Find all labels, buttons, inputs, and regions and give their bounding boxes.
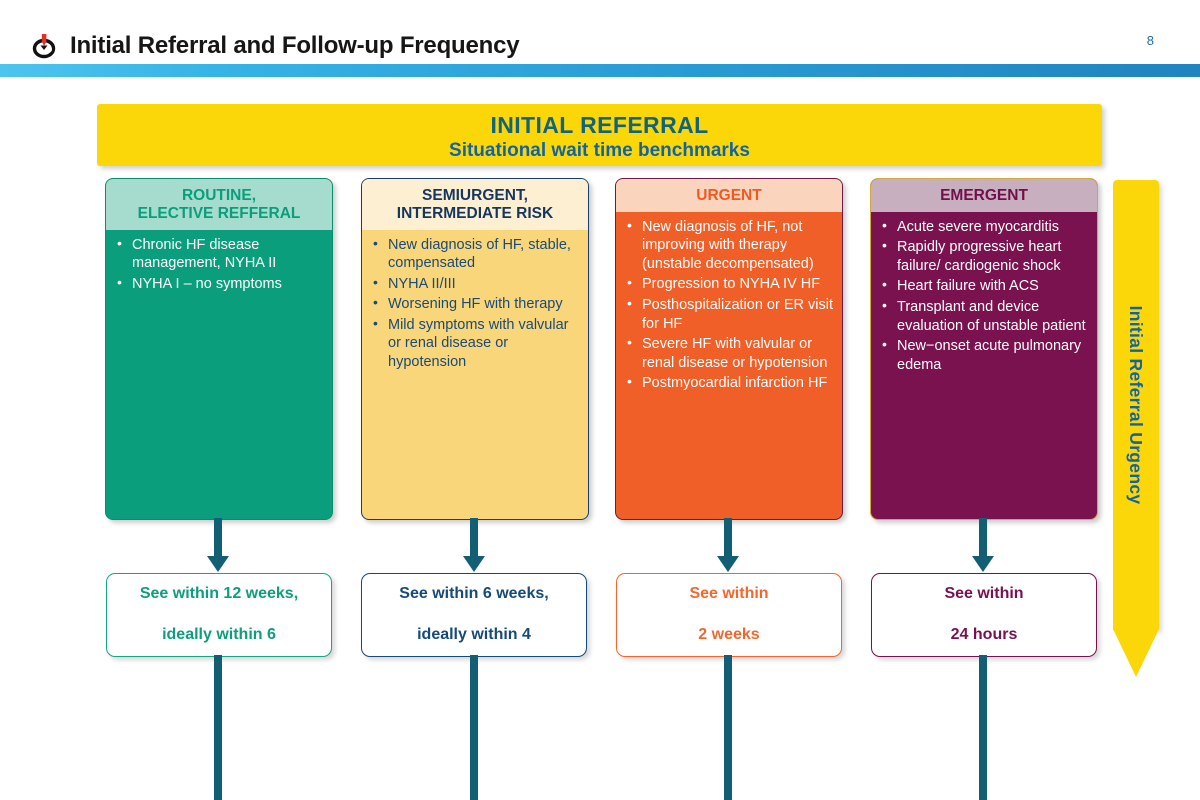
heart-failure-society-logo-icon [30, 33, 60, 59]
list-item: NYHA II/III [386, 275, 580, 294]
list-item: Posthospitalization or ER visit for HF [640, 296, 834, 333]
connector-arrowhead-routine [207, 556, 229, 572]
column-header-line1: SEMIURGENT, [366, 187, 584, 205]
column-body-semiurgent: New diagnosis of HF, stable, compensated… [362, 230, 588, 384]
urgency-arrow-tip-icon [1113, 629, 1159, 677]
outcome-text: See within 12 weeks, ideally within 6 [140, 584, 298, 646]
outcome-line1: See within [689, 584, 768, 605]
list-item: Progression to NYHA IV HF [640, 275, 834, 294]
flow-line-routine [214, 655, 222, 800]
column-header-routine: ROUTINE, ELECTIVE REFFERAL [106, 179, 332, 230]
column-body-routine: Chronic HF disease management, NYHA II N… [106, 230, 332, 306]
list-item: Mild symptoms with valvular or renal dis… [386, 316, 580, 372]
header-accent-bar [0, 64, 1200, 77]
initial-referral-banner: INITIAL REFERRAL Situational wait time b… [97, 104, 1102, 166]
column-header-line2: ELECTIVE REFFERAL [110, 205, 328, 223]
page-number: 8 [1147, 33, 1154, 48]
banner-title: INITIAL REFERRAL [97, 112, 1102, 139]
list-item: New−onset acute pulmonary edema [895, 337, 1089, 374]
connector-arrow-urgent [724, 518, 732, 558]
flow-line-emergent [979, 655, 987, 800]
outcome-line2: ideally within 6 [140, 625, 298, 646]
connector-arrow-semiurgent [470, 518, 478, 558]
slide-header: Initial Referral and Follow-up Frequency… [0, 0, 1200, 66]
urgency-arrow-label: Initial Referral Urgency [1113, 180, 1159, 630]
category-column-semiurgent[interactable]: SEMIURGENT, INTERMEDIATE RISK New diagno… [361, 178, 589, 520]
list-item: Acute severe myocarditis [895, 218, 1089, 237]
outcome-text: See within 24 hours [944, 584, 1023, 646]
outcome-box-emergent[interactable]: See within 24 hours [871, 573, 1097, 657]
connector-arrow-routine [214, 518, 222, 558]
column-body-emergent: Acute severe myocarditis Rapidly progres… [871, 212, 1097, 386]
flow-line-urgent [724, 655, 732, 800]
connector-arrowhead-semiurgent [463, 556, 485, 572]
list-item: Postmyocardial infarction HF [640, 374, 834, 393]
column-header-line2: INTERMEDIATE RISK [366, 205, 584, 223]
flow-line-semiurgent [470, 655, 478, 800]
outcome-box-urgent[interactable]: See within 2 weeks [616, 573, 842, 657]
criteria-list-routine: Chronic HF disease management, NYHA II N… [112, 236, 324, 294]
column-header-emergent: EMERGENT [871, 179, 1097, 212]
criteria-list-semiurgent: New diagnosis of HF, stable, compensated… [368, 236, 580, 372]
connector-arrowhead-urgent [717, 556, 739, 572]
urgency-scale-arrow: Initial Referral Urgency [1113, 180, 1159, 675]
column-header-line1: EMERGENT [875, 187, 1093, 205]
outcome-text: See within 6 weeks, ideally within 4 [399, 584, 548, 646]
column-body-urgent: New diagnosis of HF, not improving with … [616, 212, 842, 405]
outcome-box-routine[interactable]: See within 12 weeks, ideally within 6 [106, 573, 332, 657]
list-item: Heart failure with ACS [895, 277, 1089, 296]
column-header-line1: ROUTINE, [110, 187, 328, 205]
list-item: Rapidly progressive heart failure/ cardi… [895, 238, 1089, 275]
outcome-line2: ideally within 4 [399, 625, 548, 646]
connector-arrow-emergent [979, 518, 987, 558]
list-item: Transplant and device evaluation of unst… [895, 298, 1089, 335]
list-item: NYHA I – no symptoms [130, 275, 324, 294]
outcome-line2: 24 hours [944, 625, 1023, 646]
list-item: Severe HF with valvular or renal disease… [640, 335, 834, 372]
outcome-line2: 2 weeks [689, 625, 768, 646]
column-header-semiurgent: SEMIURGENT, INTERMEDIATE RISK [362, 179, 588, 230]
outcome-line1: See within 12 weeks, [140, 584, 298, 605]
outcome-line1: See within 6 weeks, [399, 584, 548, 605]
category-column-routine[interactable]: ROUTINE, ELECTIVE REFFERAL Chronic HF di… [105, 178, 333, 520]
column-header-urgent: URGENT [616, 179, 842, 212]
list-item: Worsening HF with therapy [386, 295, 580, 314]
category-column-urgent[interactable]: URGENT New diagnosis of HF, not improvin… [615, 178, 843, 520]
page-title: Initial Referral and Follow-up Frequency [70, 32, 519, 60]
criteria-list-urgent: New diagnosis of HF, not improving with … [622, 218, 834, 393]
criteria-list-emergent: Acute severe myocarditis Rapidly progres… [877, 218, 1089, 374]
list-item: New diagnosis of HF, not improving with … [640, 218, 834, 274]
outcome-line1: See within [944, 584, 1023, 605]
category-column-emergent[interactable]: EMERGENT Acute severe myocarditis Rapidl… [870, 178, 1098, 520]
banner-subtitle: Situational wait time benchmarks [97, 140, 1102, 162]
list-item: New diagnosis of HF, stable, compensated [386, 236, 580, 273]
list-item: Chronic HF disease management, NYHA II [130, 236, 324, 273]
connector-arrowhead-emergent [972, 556, 994, 572]
column-header-line1: URGENT [620, 187, 838, 205]
outcome-box-semiurgent[interactable]: See within 6 weeks, ideally within 4 [361, 573, 587, 657]
outcome-text: See within 2 weeks [689, 584, 768, 646]
